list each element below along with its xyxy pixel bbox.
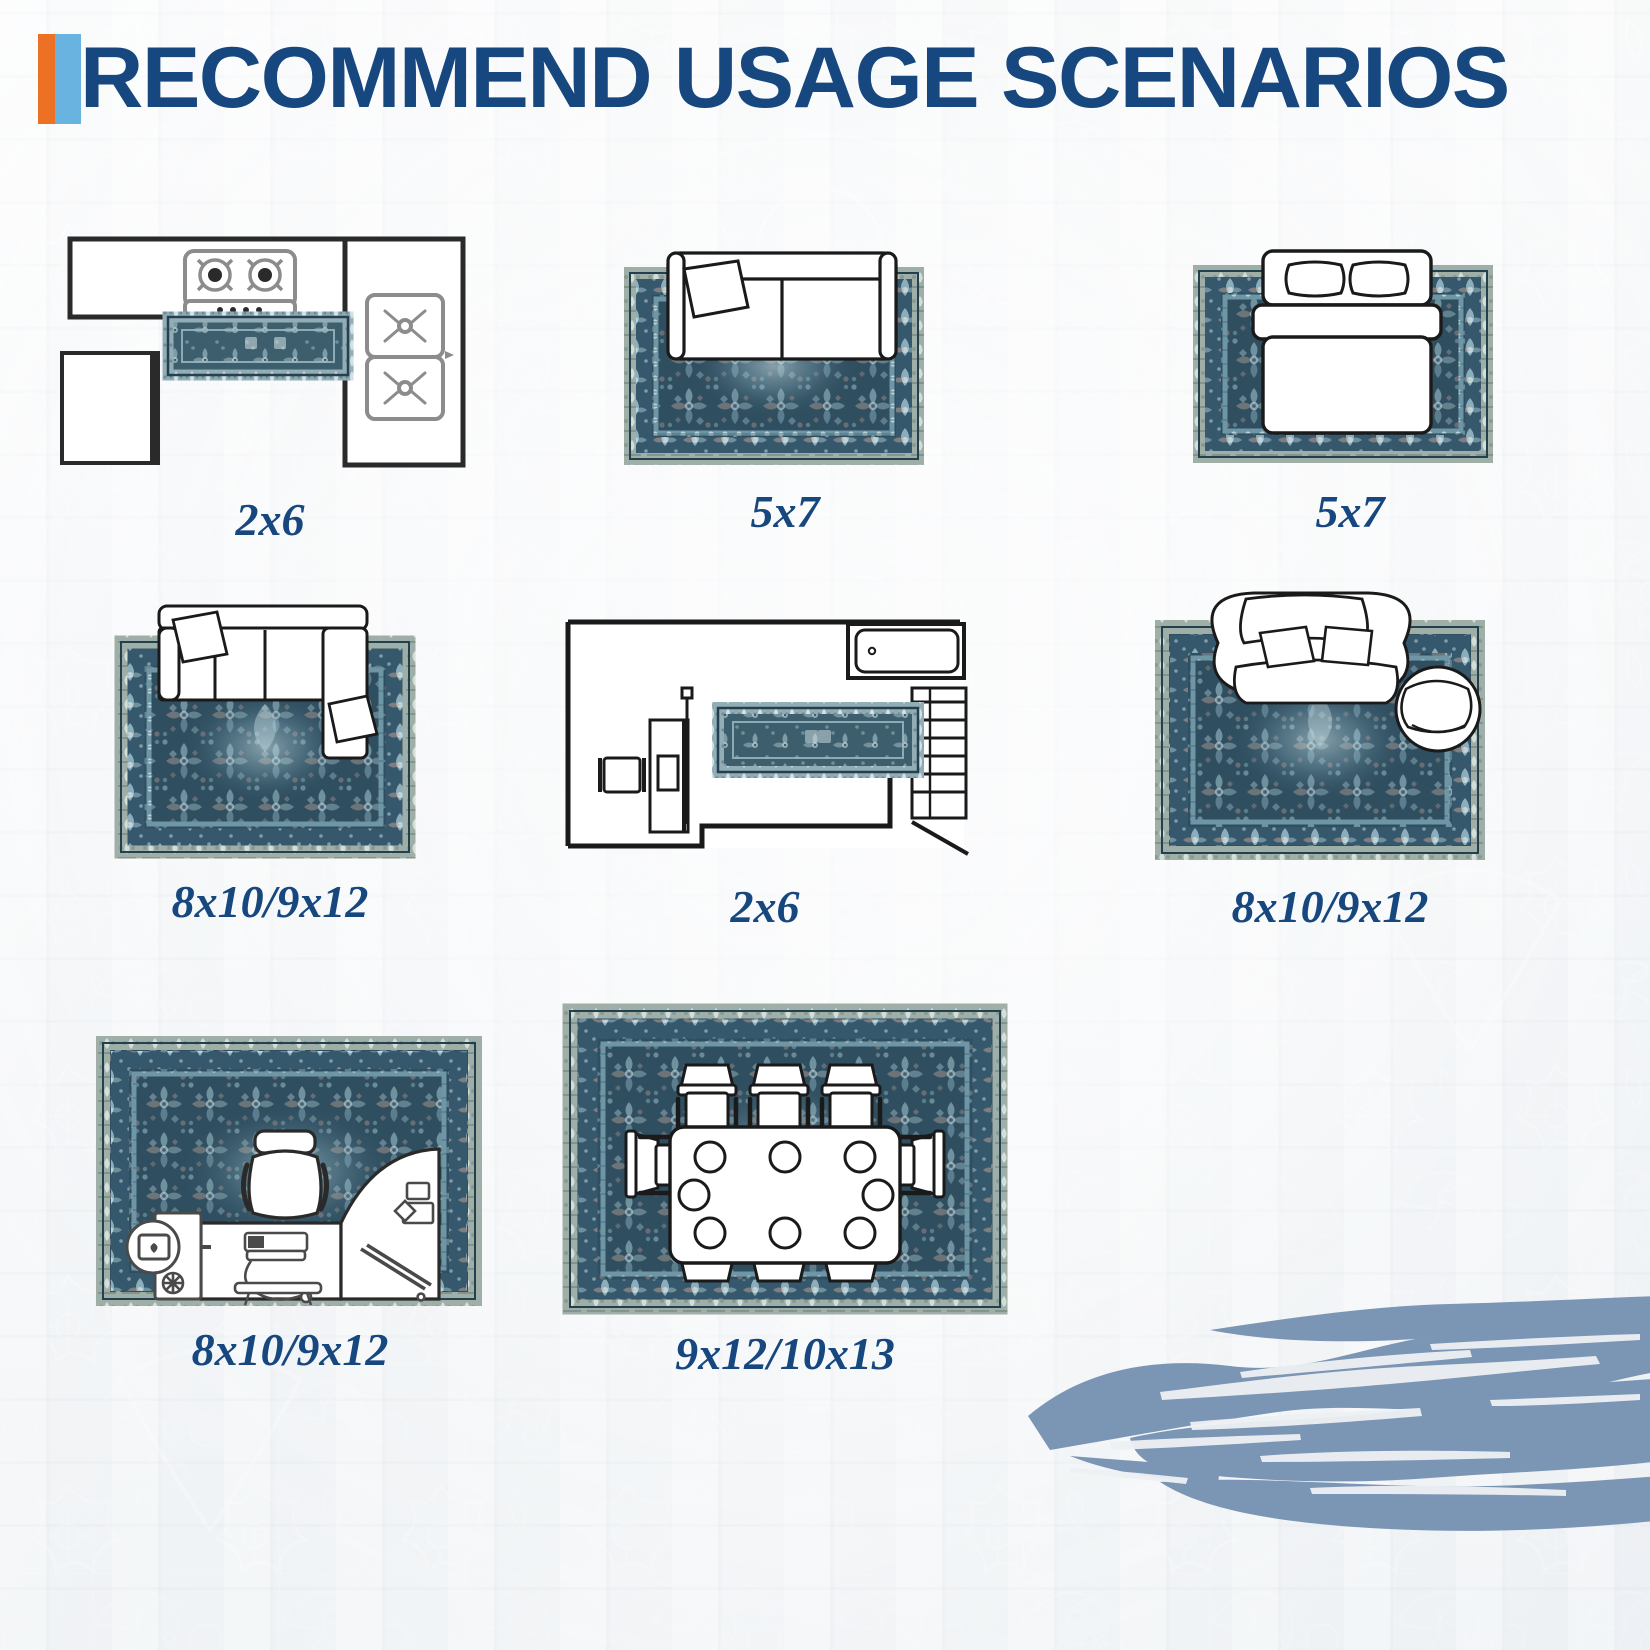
cooktop-icon: [185, 251, 295, 317]
dining-on-rug: [560, 1005, 1010, 1315]
sectional-on-rug: [115, 600, 425, 860]
page-title: RECOMMEND USAGE SCENARIOS: [80, 18, 1509, 138]
caption-kitchen: 2x6: [40, 493, 500, 546]
scene-home-office: 8x10/9x12: [95, 1035, 485, 1385]
sink-icon: [367, 295, 454, 419]
desk-mat: [235, 1283, 321, 1293]
caption-sofa: 5x7: [620, 485, 950, 538]
caption-lounge: 8x10/9x12: [1150, 880, 1510, 933]
dining-table: [670, 1127, 900, 1263]
scene-bedroom: 5x7: [1185, 245, 1515, 535]
refrigerator-icon: [62, 353, 158, 463]
scene-hallway-runner: 2x6: [560, 610, 970, 930]
two-seat-sofa: [668, 253, 896, 359]
bathtub-icon: [848, 624, 964, 678]
throw-pillow-right: [329, 696, 377, 742]
caption-office: 8x10/9x12: [95, 1323, 485, 1376]
mattress: [1263, 337, 1431, 433]
hallway-floorplan: [560, 610, 970, 860]
round-accent-chair: [1396, 667, 1480, 751]
bed: [1253, 251, 1441, 433]
accent-bar-orange: [38, 34, 55, 124]
sofa-pillow-right: [1322, 627, 1372, 665]
accent-bar-blue: [55, 34, 81, 124]
throw-pillow-left: [173, 612, 227, 662]
caption-living: 8x10/9x12: [115, 875, 425, 928]
office-on-rug: [95, 1035, 485, 1310]
brush-stroke-decoration: [1010, 1120, 1650, 1540]
pillow-left: [1286, 262, 1344, 296]
blanket-band: [1253, 305, 1441, 339]
pillow-right: [1350, 262, 1408, 296]
sofa-on-rug: [620, 245, 950, 475]
throw-pillow: [684, 261, 748, 317]
scene-lounge: 8x10/9x12: [1150, 585, 1510, 935]
scene-dining-room: 9x12/10x13: [560, 1005, 1010, 1395]
scene-living-room-sofa: 5x7: [620, 245, 950, 535]
sofa-pillow-left: [1260, 627, 1314, 667]
lounge-on-rug: [1150, 585, 1510, 865]
scene-living-sectional: 8x10/9x12: [115, 600, 425, 930]
caption-hall: 2x6: [560, 880, 970, 933]
office-chair: [243, 1131, 326, 1218]
plant-icon: [163, 1273, 183, 1293]
runner-rug: [718, 708, 918, 772]
page-header: RECOMMEND USAGE SCENARIOS: [0, 0, 1650, 150]
chair-back: [249, 1151, 321, 1218]
runner-rug: [168, 317, 348, 375]
kitchen-floorplan: [40, 225, 500, 485]
scene-kitchen-runner: 2x6: [40, 225, 500, 555]
title-accent-bars: [38, 34, 81, 124]
bed-on-rug: [1185, 245, 1515, 475]
caption-dining: 9x12/10x13: [560, 1327, 1010, 1380]
caption-bed: 5x7: [1185, 485, 1515, 538]
curved-sofa: [1212, 593, 1410, 703]
